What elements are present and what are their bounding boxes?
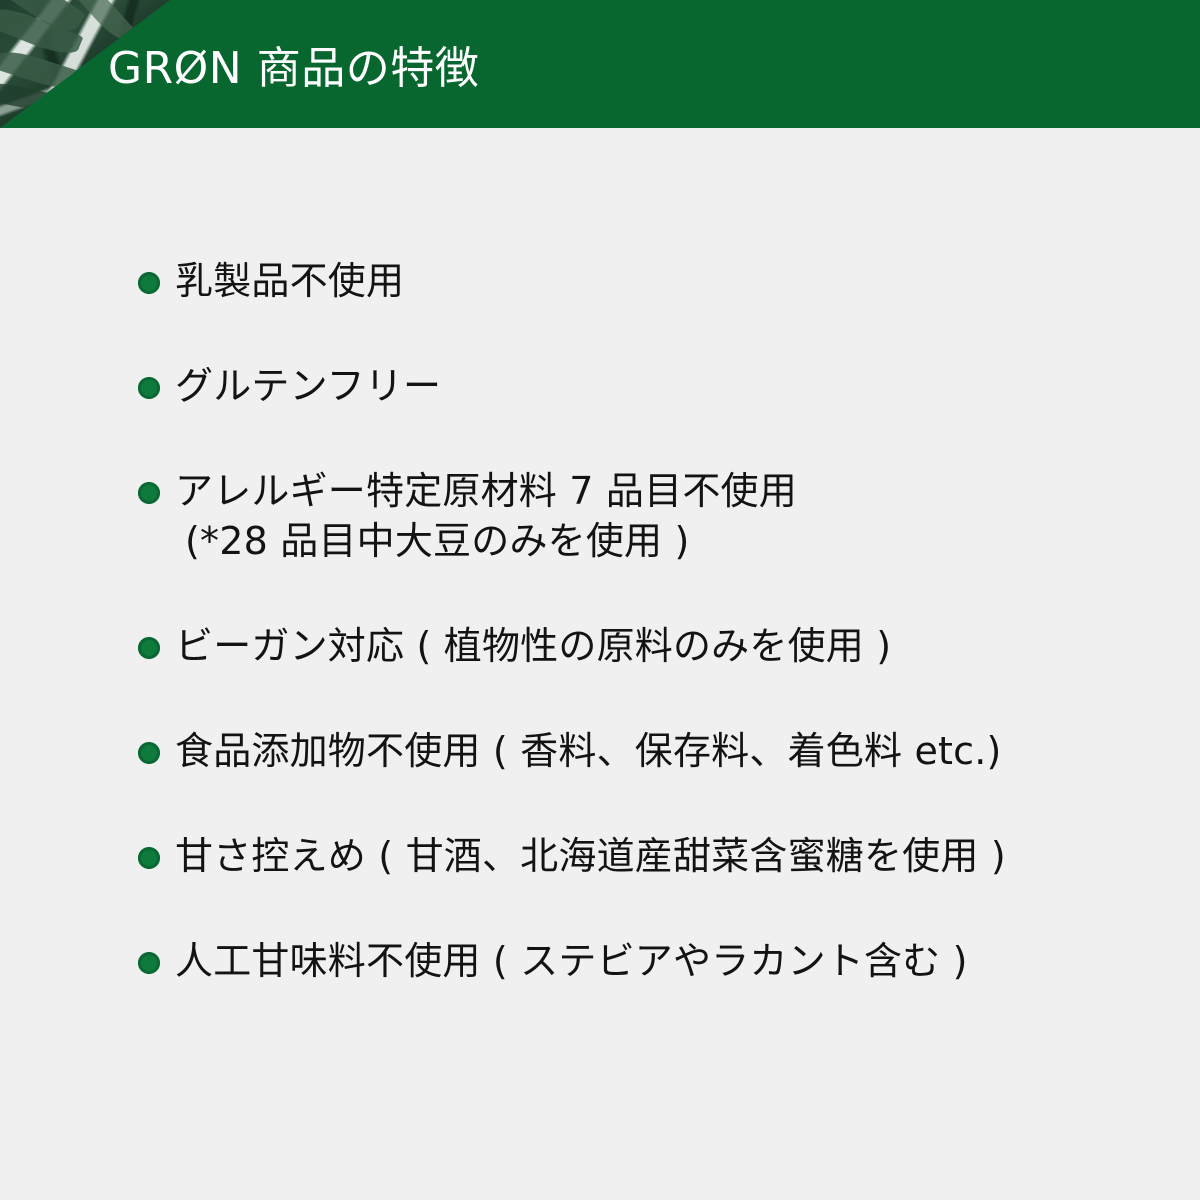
list-item: ビーガン対応 ( 植物性の原料のみを使用 ) <box>138 621 1138 671</box>
list-item: 乳製品不使用 <box>138 256 1138 306</box>
list-item: グルテンフリー <box>138 361 1138 411</box>
list-item: 甘さ控えめ ( 甘酒、北海道産甜菜含蜜糖を使用 ) <box>138 831 1138 881</box>
bullet-icon <box>138 847 160 869</box>
feature-text: アレルギー特定原材料 7 品目不使用 <box>175 466 1138 516</box>
bullet-icon <box>138 742 160 764</box>
bullet-icon <box>138 272 160 294</box>
bullet-icon <box>138 482 160 504</box>
feature-list: 乳製品不使用 グルテンフリー アレルギー特定原材料 7 品目不使用 (*28 品… <box>138 256 1138 986</box>
feature-text: ビーガン対応 ( 植物性の原料のみを使用 ) <box>175 621 1138 671</box>
bullet-icon <box>138 952 160 974</box>
feature-text: 乳製品不使用 <box>175 256 1138 306</box>
bullet-icon <box>138 377 160 399</box>
features-section: 乳製品不使用 グルテンフリー アレルギー特定原材料 7 品目不使用 (*28 品… <box>0 128 1200 1200</box>
list-item: 食品添加物不使用 ( 香料、保存料、着色料 etc.) <box>138 726 1138 776</box>
feature-text: 人工甘味料不使用 ( ステビアやラカント含む ) <box>175 936 1138 986</box>
list-item: アレルギー特定原材料 7 品目不使用 (*28 品目中大豆のみを使用 ) <box>138 466 1138 566</box>
feature-text: 食品添加物不使用 ( 香料、保存料、着色料 etc.) <box>175 726 1138 776</box>
list-item: 人工甘味料不使用 ( ステビアやラカント含む ) <box>138 936 1138 986</box>
bullet-icon <box>138 637 160 659</box>
feature-text: グルテンフリー <box>175 361 1138 411</box>
feature-subtext: (*28 品目中大豆のみを使用 ) <box>175 516 1138 566</box>
page-header: GRØN 商品の特徴 <box>0 0 1200 128</box>
page-title: GRØN 商品の特徴 <box>108 0 479 128</box>
feature-text: 甘さ控えめ ( 甘酒、北海道産甜菜含蜜糖を使用 ) <box>175 831 1138 881</box>
